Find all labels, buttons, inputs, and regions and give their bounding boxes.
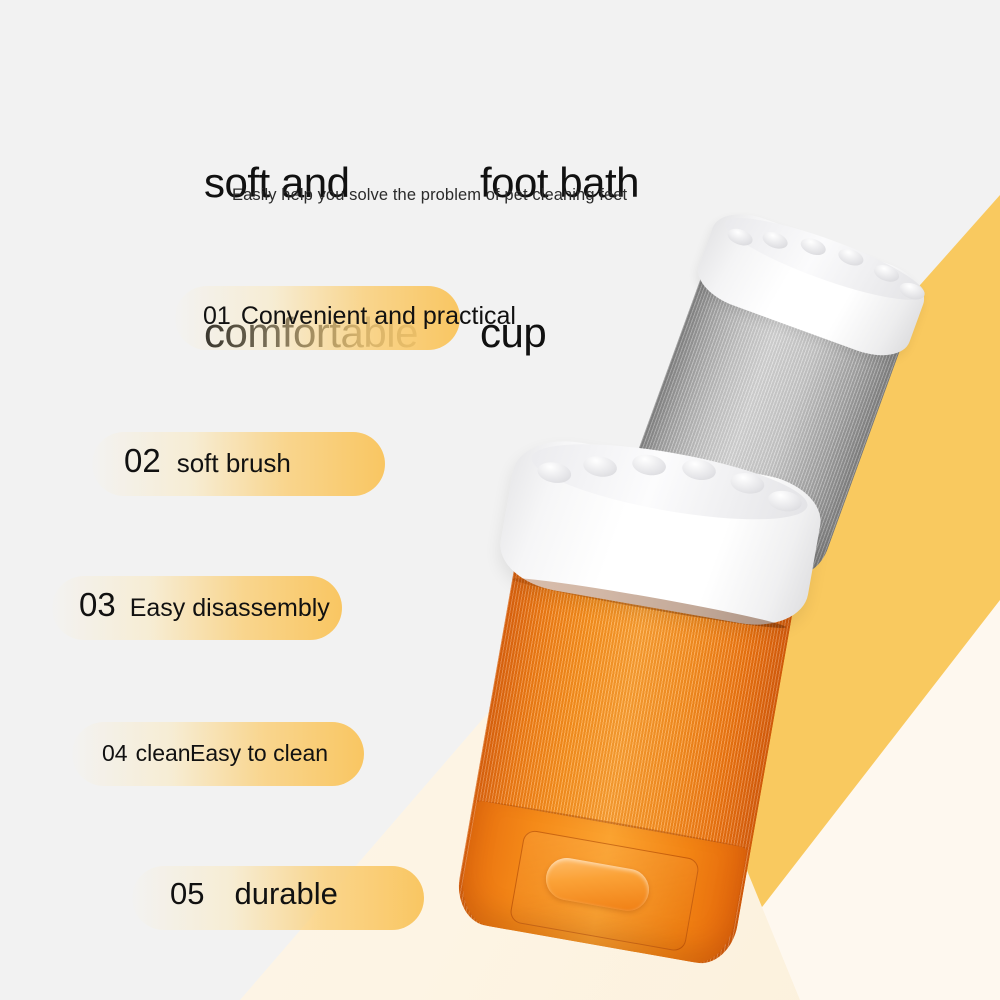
poster-canvas: soft and comfortable foot bath cup Easil…: [0, 0, 1000, 1000]
orange-cup-button: [543, 855, 653, 914]
feature-text-04: 04 clean: [102, 740, 191, 767]
feature-label-02: soft brush: [177, 448, 291, 479]
feature-number-01: 01: [203, 302, 231, 331]
feature-label-03: Easy disassembly: [130, 594, 330, 623]
feature-number-04: 04: [102, 740, 128, 767]
feature-number-02: 02: [124, 442, 161, 480]
feature-text-04-overlap: Easy to clean: [190, 740, 328, 767]
feature-pill-03: 03 Easy disassembly: [52, 576, 342, 640]
feature-number-05: 05: [170, 876, 204, 912]
feature-label-01: Convenient and practical: [241, 302, 516, 331]
title-column-left: soft and comfortable: [204, 58, 494, 458]
feature-text-05: 05 durable: [170, 876, 338, 912]
feature-text-02: 02 soft brush: [124, 442, 291, 480]
feature-label-04: clean: [136, 740, 191, 767]
feature-label-05: durable: [234, 876, 337, 912]
feature-number-03: 03: [79, 586, 116, 624]
page-subtitle: Easily help you solve the problem of pet…: [232, 186, 627, 205]
feature-pill-02: 02 soft brush: [92, 432, 385, 496]
feature-pill-01: 01 Convenient and practical: [175, 286, 460, 350]
feature-text-01: 01 Convenient and practical: [203, 302, 516, 331]
feature-label-04-overlap: Easy to clean: [190, 740, 328, 767]
feature-pill-05: 05 durable: [132, 866, 424, 930]
feature-pill-04: 04 clean Easy to clean: [72, 722, 364, 786]
page-title: soft and comfortable foot bath cup: [204, 58, 804, 258]
feature-text-03: 03 Easy disassembly: [79, 586, 330, 624]
title-line-4: cup: [480, 308, 800, 358]
title-column-right: foot bath cup: [480, 58, 800, 458]
